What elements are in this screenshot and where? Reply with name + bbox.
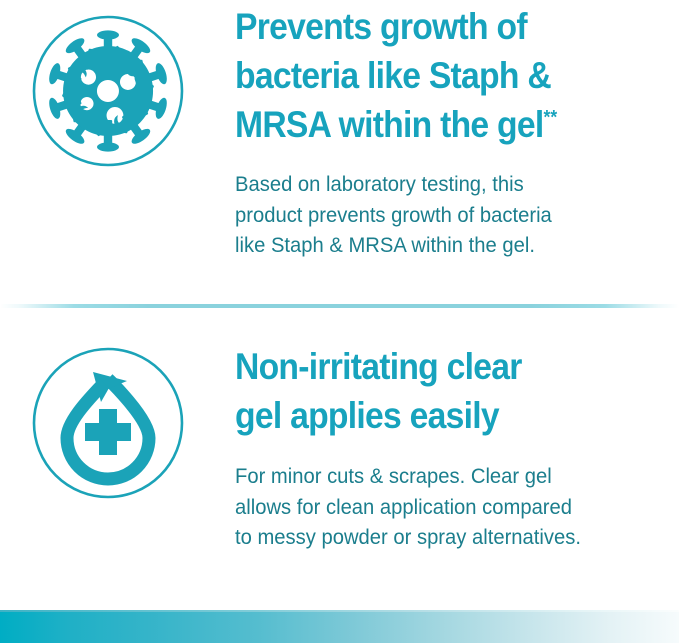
feature-block-clear-gel: Non-irritating clear gel applies easily … <box>0 340 679 553</box>
feature-block-antibacterial: Prevents growth of bacteria like Staph &… <box>0 0 679 261</box>
feature-heading: Non-irritating clear gel applies easily <box>235 340 621 440</box>
feature-heading-footnote-marker: ** <box>544 108 558 129</box>
section-divider <box>0 304 679 308</box>
feature-body-text: For minor cuts & scrapes. Clear gel allo… <box>235 440 634 553</box>
feature-heading: Prevents growth of bacteria like Staph &… <box>235 0 621 149</box>
virus-bacteria-icon <box>31 14 185 168</box>
gel-droplet-cross-icon <box>31 346 185 500</box>
feature-heading-text: Prevents growth of bacteria like Staph &… <box>235 6 551 145</box>
feature-text-container: Non-irritating clear gel applies easily … <box>235 340 679 553</box>
feature-body-text: Based on laboratory testing, this produc… <box>235 149 634 261</box>
feature-heading-text: Non-irritating clear gel applies easily <box>235 346 522 436</box>
feature-icon-container <box>0 0 235 168</box>
product-benefits-infographic: Prevents growth of bacteria like Staph &… <box>0 0 679 643</box>
feature-icon-container <box>0 340 235 500</box>
bottom-gradient-band <box>0 612 679 643</box>
feature-text-container: Prevents growth of bacteria like Staph &… <box>235 0 679 261</box>
